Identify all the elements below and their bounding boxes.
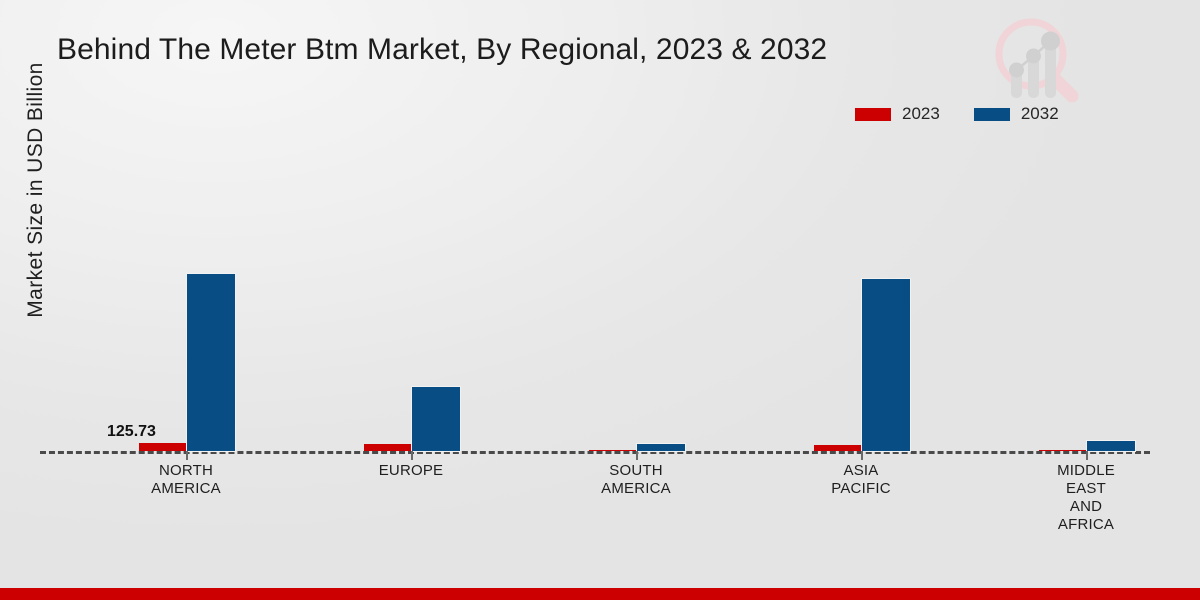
x-axis-tick [861,451,863,460]
category-group-south-america [562,151,712,451]
x-axis-label-line: MIDDLE [1026,462,1146,480]
x-axis-tick [636,451,638,460]
bar-2023[interactable] [814,445,862,451]
data-label-north-america-2023: 125.73 [107,423,156,441]
legend-swatch-icon [855,108,891,121]
legend-swatch-icon [974,108,1010,121]
x-axis-label-line: NORTH [126,462,246,480]
x-axis-label-line: AND [1026,498,1146,516]
bar-pair [589,444,685,451]
bar-2032[interactable] [1087,441,1135,451]
x-axis-label-europe: EUROPE [351,462,471,480]
category-group-europe [337,151,487,451]
bar-2032[interactable] [412,387,460,451]
x-axis-tick [1086,451,1088,460]
x-axis-label-line: ASIA [801,462,921,480]
bar-2023[interactable] [589,450,637,451]
bar-2023[interactable] [364,444,412,451]
bar-pair [364,387,460,451]
bar-2023[interactable] [139,443,187,451]
x-axis-baseline [40,451,1150,454]
bar-2023[interactable] [1039,450,1087,451]
x-axis-tick [186,451,188,460]
bar-2032[interactable] [637,444,685,451]
x-axis-label-line: AMERICA [126,480,246,498]
x-axis-label-middle-east-and-africa: MIDDLE EAST AND AFRICA [1026,462,1146,534]
category-group-north-america [112,151,262,451]
x-axis-label-line: EUROPE [351,462,471,480]
footer-accent-band [0,588,1200,600]
x-axis-tick [411,451,413,460]
x-axis-label-line: AMERICA [576,480,696,498]
legend-label: 2023 [902,104,940,124]
category-group-asia-pacific [787,151,937,451]
magnifying-glass-bar-chart-logo [986,12,1084,108]
x-axis-label-line: EAST [1026,480,1146,498]
category-group-middle-east-and-africa [1012,151,1162,451]
x-axis-label-line: PACIFIC [801,480,921,498]
legend-item-2023[interactable]: 2023 [855,104,940,124]
bar-2032[interactable] [187,274,235,451]
bar-2032[interactable] [862,279,910,451]
legend-item-2032[interactable]: 2032 [974,104,1059,124]
x-axis-label-north-america: NORTH AMERICA [126,462,246,498]
x-axis-label-asia-pacific: ASIA PACIFIC [801,462,921,498]
x-axis-label-line: SOUTH [576,462,696,480]
chart-legend: 2023 2032 [855,104,1059,124]
page-title: Behind The Meter Btm Market, By Regional… [57,33,827,67]
x-axis-label-line: AFRICA [1026,516,1146,534]
bar-pair [1039,441,1135,451]
bar-pair [814,279,910,451]
plot-area: 125.73 NORTH AMERICA EUROPE SOUTH [40,140,1150,453]
chart-canvas: Behind The Meter Btm Market, By Regional… [0,0,1200,600]
x-axis-label-south-america: SOUTH AMERICA [576,462,696,498]
legend-label: 2032 [1021,104,1059,124]
